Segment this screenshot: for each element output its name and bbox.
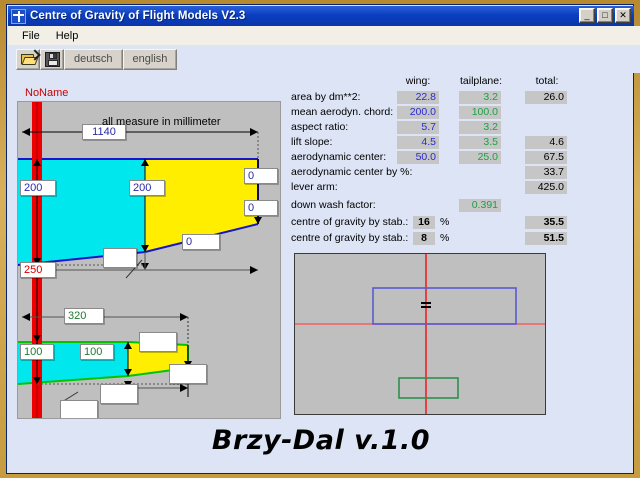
airplane-icon — [11, 9, 26, 24]
close-icon: ✕ — [616, 9, 630, 22]
table-header-wing: wing: — [395, 75, 441, 87]
dim-label-blank-c[interactable] — [169, 364, 207, 384]
cg-percent-sign-1: % — [440, 216, 449, 228]
toolbar: deutsch english — [8, 45, 640, 73]
row-label-aero-center: aerodynamic center: — [291, 151, 386, 163]
row-value-aspect-wing: 5.7 — [397, 121, 439, 134]
row-label-downwash: down wash factor: — [291, 199, 376, 211]
wing-plan-rect — [373, 288, 516, 324]
row-value-mac-tail: 100.0 — [459, 106, 501, 119]
open-folder-icon — [20, 52, 37, 66]
row-value-ac-total: 67.5 — [525, 151, 567, 164]
dim-sweep-arrow-right — [250, 266, 258, 274]
save-file-button[interactable] — [40, 49, 64, 70]
menu-item-help[interactable]: Help — [48, 29, 87, 43]
dim-label-lever[interactable]: 250 — [20, 262, 56, 278]
brand-title: Brzy-Dal v.1.0 — [7, 425, 635, 456]
dim-label-mid-chord[interactable]: 200 — [129, 180, 165, 196]
dim-label-blank-d[interactable] — [100, 384, 138, 404]
dim-label-tip-chord-b[interactable]: 0 — [244, 200, 278, 216]
maximize-icon: □ — [598, 9, 612, 22]
row-label-area: area by dm**2: — [291, 91, 360, 103]
row-label-cg-1: centre of gravity by stab.: — [291, 216, 408, 228]
minimize-icon: _ — [580, 9, 594, 22]
dim-label-tail-mid-chord[interactable]: 100 — [80, 344, 114, 360]
dim-tail-sweep-arrow-right — [180, 384, 188, 392]
dim-label-root-chord[interactable]: 200 — [20, 180, 56, 196]
dim-tailspan-arrow-right — [180, 313, 188, 321]
cg-stab-input-2[interactable]: 8 — [413, 232, 435, 245]
row-value-ac-wing: 50.0 — [397, 151, 439, 164]
menu-bar: File Help — [8, 26, 640, 46]
dim-label-blank-b[interactable] — [139, 332, 177, 352]
top-view-chart-panel[interactable] — [294, 253, 546, 415]
dim-label-tail-span[interactable]: 320 — [64, 308, 104, 324]
row-label-mac: mean aerodyn. chord: — [291, 106, 393, 118]
row-label-aero-center-pct: aerodynamic center by %: — [291, 166, 412, 178]
units-note: all measure in millimeter — [102, 116, 221, 128]
row-label-aspect-ratio: aspect ratio: — [291, 121, 348, 133]
row-value-area-total: 26.0 — [525, 91, 567, 104]
row-label-cg-2: centre of gravity by stab.: — [291, 232, 408, 244]
table-header-tailplane: tailplane: — [453, 75, 509, 87]
dim-span-arrow-left — [22, 128, 30, 136]
dim-label-blank-e[interactable] — [60, 400, 98, 419]
row-value-area-tail: 3.2 — [459, 91, 501, 104]
tailplane-plan-rect — [399, 378, 458, 398]
planform-svg — [18, 102, 280, 418]
cg-total-1: 35.5 — [525, 216, 567, 229]
cg-percent-sign-2: % — [440, 232, 449, 244]
row-value-ac-pct-total: 33.7 — [525, 166, 567, 179]
cg-total-2: 51.5 — [525, 232, 567, 245]
title-bar: Centre of Gravity of Flight Models V2.3 … — [8, 6, 634, 26]
close-button[interactable]: ✕ — [615, 8, 631, 23]
row-value-lever-total: 425.0 — [525, 181, 567, 194]
row-value-downwash-tail: 0.391 — [459, 199, 501, 212]
model-name-label: NoName — [25, 87, 68, 99]
menu-item-file[interactable]: File — [14, 29, 48, 43]
floppy-save-icon — [45, 52, 60, 67]
language-english-button[interactable]: english — [123, 49, 178, 70]
dim-label-tip-chord-a[interactable]: 0 — [244, 168, 278, 184]
language-deutsch-button[interactable]: deutsch — [64, 49, 123, 70]
row-value-mac-wing: 200.0 — [397, 106, 439, 119]
row-value-aspect-tail: 3.2 — [459, 121, 501, 134]
row-label-lever-arm: lever arm: — [291, 181, 338, 193]
row-value-lift-total: 4.6 — [525, 136, 567, 149]
open-file-button[interactable] — [16, 49, 40, 70]
desktop-background: Centre of Gravity of Flight Models V2.3 … — [0, 0, 640, 478]
table-header-total: total: — [525, 75, 569, 87]
row-value-area-wing: 22.8 — [397, 91, 439, 104]
maximize-button[interactable]: □ — [597, 8, 613, 23]
application-window: Centre of Gravity of Flight Models V2.3 … — [6, 4, 634, 474]
window-title: Centre of Gravity of Flight Models V2.3 — [30, 10, 245, 22]
top-view-svg — [295, 254, 545, 414]
row-value-lift-tail: 3.5 — [459, 136, 501, 149]
dim-tailspan-arrow-left — [22, 313, 30, 321]
row-label-lift-slope: lift slope: — [291, 136, 332, 148]
planform-drawing-panel[interactable]: 1140 all measure in millimeter 200 200 0… — [17, 101, 281, 419]
cg-stab-input-1[interactable]: 16 — [413, 216, 435, 229]
dim-span-arrow-right — [250, 128, 258, 136]
row-value-lift-wing: 4.5 — [397, 136, 439, 149]
window-controls: _ □ ✕ — [579, 8, 631, 23]
row-value-ac-tail: 25.0 — [459, 151, 501, 164]
dim-label-blank-a[interactable] — [103, 248, 137, 268]
dim-label-sweep[interactable]: 0 — [182, 234, 220, 250]
minimize-button[interactable]: _ — [579, 8, 595, 23]
dim-label-tail-root-chord[interactable]: 100 — [20, 344, 54, 360]
